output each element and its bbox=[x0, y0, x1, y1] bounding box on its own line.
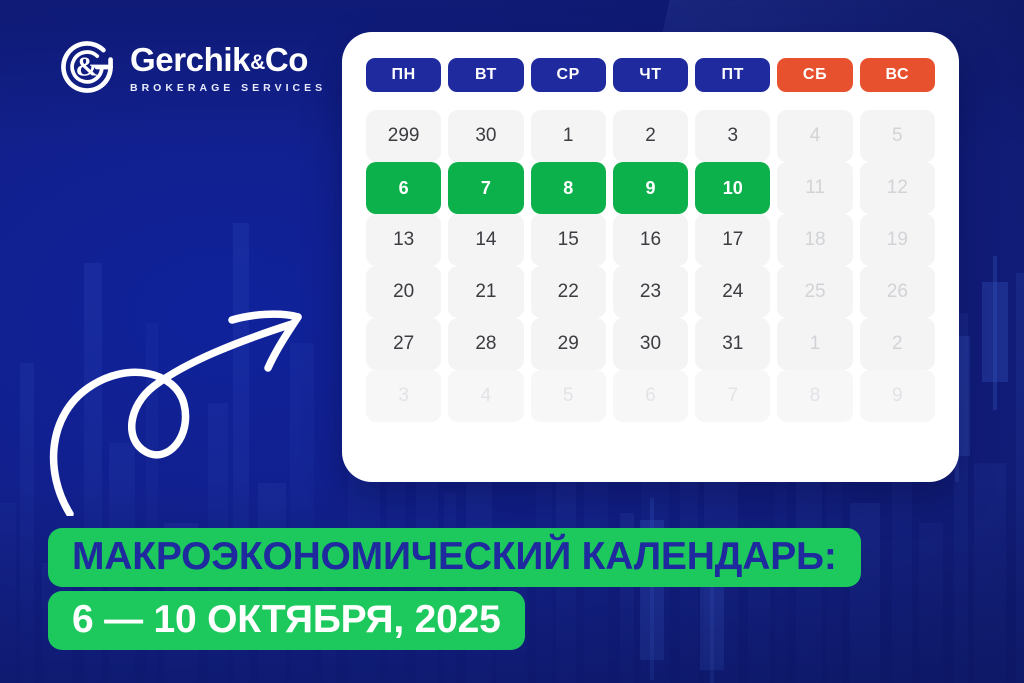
calendar-day-cell[interactable]: 4 bbox=[777, 110, 852, 162]
calendar-day-cell[interactable]: 28 bbox=[448, 318, 523, 370]
calendar-weekday-header: ПТ bbox=[695, 58, 770, 92]
gerchik-g-ampersand-logo-icon: & bbox=[56, 36, 118, 98]
calendar-day-cell[interactable]: 25 bbox=[777, 266, 852, 318]
brand-name-part1: Gerchik bbox=[130, 41, 250, 78]
title-banner: МАКРОЭКОНОМИЧЕСКИЙ КАЛЕНДАРЬ: 6 — 10 ОКТ… bbox=[48, 528, 861, 650]
calendar-day-cell[interactable]: 17 bbox=[695, 214, 770, 266]
calendar-day-cell[interactable]: 30 bbox=[448, 110, 523, 162]
svg-text:&: & bbox=[76, 52, 99, 82]
calendar-day-cell-selected[interactable]: 6 bbox=[366, 162, 441, 214]
calendar-day-cell[interactable]: 31 bbox=[695, 318, 770, 370]
calendar-day-cell[interactable]: 18 bbox=[777, 214, 852, 266]
banner-title-line1: МАКРОЭКОНОМИЧЕСКИЙ КАЛЕНДАРЬ: bbox=[48, 528, 861, 587]
calendar-day-cell[interactable]: 4 bbox=[448, 370, 523, 422]
calendar-day-cell[interactable]: 21 bbox=[448, 266, 523, 318]
calendar-day-cell[interactable]: 29 bbox=[531, 318, 606, 370]
calendar-day-cell[interactable]: 5 bbox=[860, 110, 935, 162]
calendar-day-cell[interactable]: 16 bbox=[613, 214, 688, 266]
calendar-day-cell[interactable]: 26 bbox=[860, 266, 935, 318]
brand-logo[interactable]: & Gerchik&Co BROKERAGE SERVICES bbox=[56, 36, 326, 98]
calendar-day-cell[interactable]: 20 bbox=[366, 266, 441, 318]
calendar-day-cell[interactable]: 12 bbox=[860, 162, 935, 214]
calendar-day-cell-selected[interactable]: 8 bbox=[531, 162, 606, 214]
calendar-day-cell[interactable]: 1 bbox=[777, 318, 852, 370]
calendar-day-cell[interactable]: 15 bbox=[531, 214, 606, 266]
calendar-weekday-header: СБ bbox=[777, 58, 852, 92]
calendar-day-cell[interactable]: 14 bbox=[448, 214, 523, 266]
calendar-day-cell[interactable]: 7 bbox=[695, 370, 770, 422]
brand-tagline: BROKERAGE SERVICES bbox=[130, 82, 326, 94]
calendar-day-cell[interactable]: 11 bbox=[777, 162, 852, 214]
calendar-day-cell-selected[interactable]: 10 bbox=[695, 162, 770, 214]
calendar-day-cell[interactable]: 27 bbox=[366, 318, 441, 370]
calendar-day-cell[interactable]: 9 bbox=[860, 370, 935, 422]
calendar-weekday-header: СР bbox=[531, 58, 606, 92]
calendar-day-cell[interactable]: 1 bbox=[531, 110, 606, 162]
calendar-day-cell[interactable]: 299 bbox=[366, 110, 441, 162]
calendar-day-cell[interactable]: 8 bbox=[777, 370, 852, 422]
calendar-grid: ПНВТСРЧТПТСБВС29930123456789101112131415… bbox=[366, 58, 935, 460]
calendar-day-cell[interactable]: 13 bbox=[366, 214, 441, 266]
calendar-day-cell[interactable]: 19 bbox=[860, 214, 935, 266]
calendar-day-cell[interactable]: 2 bbox=[613, 110, 688, 162]
calendar-day-cell[interactable]: 22 bbox=[531, 266, 606, 318]
calendar-day-cell[interactable]: 2 bbox=[860, 318, 935, 370]
calendar-weekday-header: ПН bbox=[366, 58, 441, 92]
calendar-weekday-header: ЧТ bbox=[613, 58, 688, 92]
calendar-day-cell[interactable]: 30 bbox=[613, 318, 688, 370]
banner-title-line2: 6 — 10 ОКТЯБРЯ, 2025 bbox=[48, 591, 525, 650]
calendar-weekday-header: ВС bbox=[860, 58, 935, 92]
calendar-day-cell-selected[interactable]: 7 bbox=[448, 162, 523, 214]
calendar-day-cell[interactable]: 6 bbox=[613, 370, 688, 422]
calendar-day-cell[interactable]: 24 bbox=[695, 266, 770, 318]
calendar-day-cell[interactable]: 5 bbox=[531, 370, 606, 422]
brand-name-ampersand: & bbox=[250, 51, 265, 74]
calendar-weekday-header: ВТ bbox=[448, 58, 523, 92]
calendar-day-cell[interactable]: 3 bbox=[366, 370, 441, 422]
poster-canvas: & Gerchik&Co BROKERAGE SERVICES ПНВТСРЧТ… bbox=[0, 0, 1024, 683]
calendar-day-cell[interactable]: 23 bbox=[613, 266, 688, 318]
calendar-day-cell[interactable]: 3 bbox=[695, 110, 770, 162]
brand-name-part2: Co bbox=[265, 41, 308, 78]
brand-name: Gerchik&Co bbox=[130, 43, 326, 78]
calendar-card: ПНВТСРЧТПТСБВС29930123456789101112131415… bbox=[342, 32, 959, 482]
calendar-day-cell-selected[interactable]: 9 bbox=[613, 162, 688, 214]
